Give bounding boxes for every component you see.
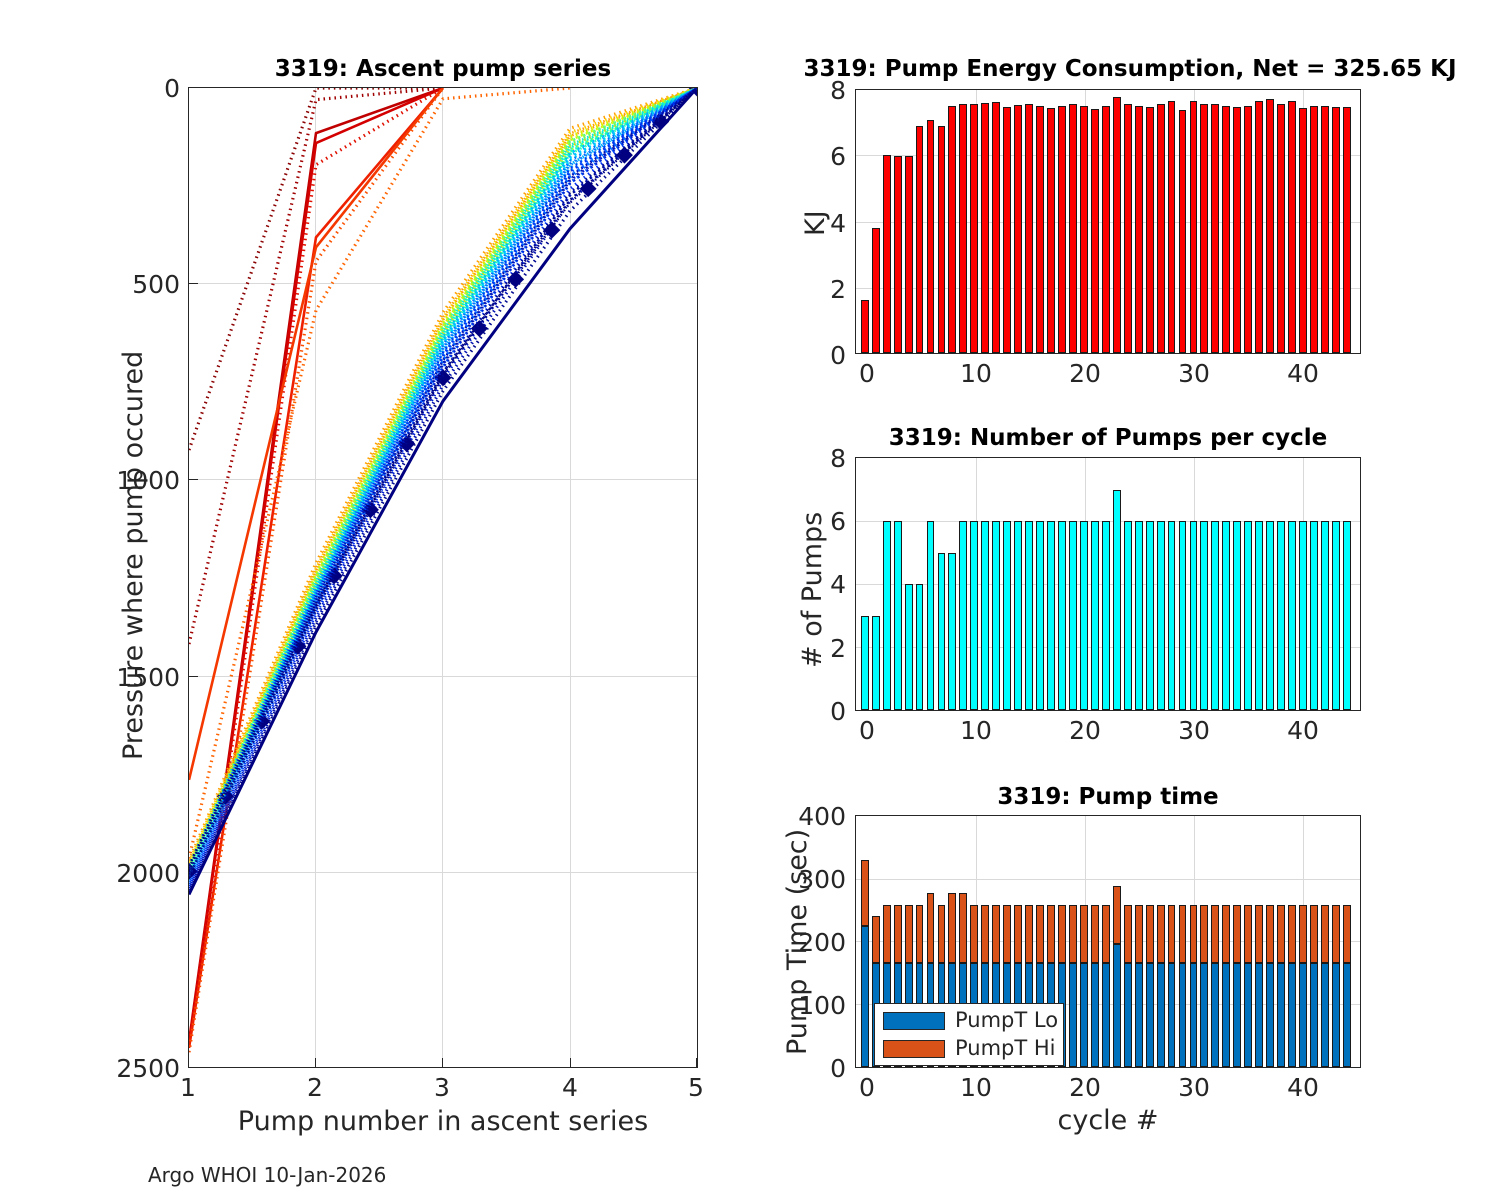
bar — [1310, 521, 1318, 710]
bar — [992, 102, 1000, 353]
footer-credit: Argo WHOI 10-Jan-2026 — [148, 1163, 386, 1187]
ascent-series-line — [189, 88, 697, 871]
ascent-series-line — [189, 88, 697, 874]
bar — [1025, 521, 1033, 710]
bar-segment — [992, 905, 1000, 963]
energy-ytick-label-0: 0 — [800, 341, 846, 370]
time-xtick-label-20: 20 — [1065, 1073, 1105, 1102]
ascent-series-line — [189, 88, 697, 877]
bar — [905, 584, 913, 710]
bar-segment — [894, 905, 902, 963]
bar-segment — [1321, 905, 1329, 963]
ascent-series-line — [189, 88, 697, 877]
ascent-series-line — [189, 88, 697, 874]
pumps-xtick-label-10: 10 — [956, 716, 996, 745]
pumps-bars-container — [856, 458, 1360, 710]
bar — [1135, 521, 1143, 710]
bar-segment — [1343, 963, 1351, 1067]
legend-swatch-pumpt-lo — [883, 1012, 945, 1030]
bar — [1168, 521, 1176, 710]
ascent-series-line — [189, 88, 697, 868]
energy-xtick-label-40: 40 — [1283, 359, 1323, 388]
bar-segment — [948, 893, 956, 964]
bar — [1211, 104, 1219, 353]
bar — [1146, 521, 1154, 710]
energy-chart-title: 3319: Pump Energy Consumption, Net = 325… — [760, 56, 1500, 82]
bar-segment — [1179, 963, 1187, 1067]
bar-segment — [1211, 963, 1219, 1067]
energy-xtick-label-10: 10 — [956, 359, 996, 388]
ascent-series-line — [189, 88, 697, 865]
bar-segment — [1299, 963, 1307, 1067]
ascent-series-line — [189, 88, 697, 874]
bar-segment — [1190, 905, 1198, 963]
bar — [916, 584, 924, 710]
bar-segment — [1266, 963, 1274, 1067]
ascent-series-line — [189, 88, 697, 867]
bar — [1102, 106, 1110, 353]
bar — [916, 126, 924, 354]
pumps-yaxis-label: # of Pumps — [797, 512, 828, 668]
bar-segment — [1277, 963, 1285, 1067]
bar — [1190, 521, 1198, 710]
ascent-series-line — [189, 88, 697, 868]
time-xtick-label-0: 0 — [847, 1073, 887, 1102]
ascent-series-line — [189, 88, 443, 1048]
ascent-series-line — [189, 88, 697, 882]
ascent-series-canvas — [189, 88, 697, 1067]
ascent-series-line — [189, 88, 697, 873]
ascent-series-line — [189, 88, 697, 868]
bar-segment — [872, 916, 880, 963]
bar — [1135, 106, 1143, 353]
bar-segment — [1332, 963, 1340, 1067]
bar — [1146, 107, 1154, 353]
ascent-series-line — [189, 88, 697, 874]
ascent-series-line — [189, 88, 697, 868]
bar — [1113, 490, 1121, 711]
time-xaxis-label: cycle # — [855, 1105, 1361, 1136]
bar-segment — [938, 905, 946, 963]
bar — [1003, 521, 1011, 710]
bar-segment — [1091, 905, 1099, 963]
bar — [1266, 99, 1274, 353]
ascent-series-line — [189, 88, 697, 868]
bar-segment — [1200, 963, 1208, 1067]
ascent-series-line — [189, 88, 697, 880]
bar — [1047, 108, 1055, 353]
bar — [1080, 521, 1088, 710]
pumps-chart-title: 3319: Number of Pumps per cycle — [855, 425, 1361, 451]
bar-segment — [916, 905, 924, 963]
bar-segment — [1200, 905, 1208, 963]
ascent-series-line — [189, 88, 697, 884]
bar-segment — [1058, 905, 1066, 963]
bar — [1277, 521, 1285, 710]
bar — [861, 300, 869, 353]
bar-segment — [1288, 963, 1296, 1067]
ascent-series-line — [189, 88, 443, 1042]
bar — [1332, 107, 1340, 353]
bar — [1321, 106, 1329, 353]
bar — [981, 521, 989, 710]
ascent-series-line — [189, 88, 697, 877]
bar-segment — [1102, 963, 1110, 1067]
bar-segment — [1277, 905, 1285, 963]
ascent-series-line — [189, 88, 697, 875]
bar — [1003, 107, 1011, 353]
bar-segment — [1146, 905, 1154, 963]
bar — [861, 616, 869, 711]
bar — [1190, 101, 1198, 353]
legend-swatch-pumpt-hi — [883, 1040, 945, 1058]
bar-segment — [1332, 905, 1340, 963]
bar — [1299, 108, 1307, 353]
time-xtick-label-40: 40 — [1283, 1073, 1323, 1102]
bar-segment — [1179, 905, 1187, 963]
ascent-series-line — [189, 88, 697, 866]
bar-segment — [970, 905, 978, 963]
bar-segment — [1069, 963, 1077, 1067]
bar — [1113, 97, 1121, 353]
bar — [1014, 105, 1022, 353]
bar-segment — [1003, 905, 1011, 963]
bar — [1277, 104, 1285, 353]
bar — [1124, 104, 1132, 353]
bar-segment — [1113, 944, 1121, 1067]
bar-segment — [1255, 963, 1263, 1067]
bar-segment — [959, 893, 967, 964]
bar — [1343, 521, 1351, 710]
bar-segment — [1233, 963, 1241, 1067]
bar — [1157, 104, 1165, 353]
bar — [1233, 521, 1241, 710]
pumps-xtick-label-30: 30 — [1174, 716, 1214, 745]
bar-segment — [1168, 905, 1176, 963]
ascent-series-line — [189, 88, 697, 878]
bar-segment — [1168, 963, 1176, 1067]
bar — [1168, 101, 1176, 353]
time-xtick-label-30: 30 — [1174, 1073, 1214, 1102]
ascent-series-line — [189, 88, 697, 866]
bar-segment — [1025, 905, 1033, 963]
bar-segment — [1244, 963, 1252, 1067]
ascent-series-line — [189, 88, 697, 877]
bar — [1069, 521, 1077, 710]
bar — [1255, 521, 1263, 710]
bar — [1222, 106, 1230, 353]
bar — [1299, 521, 1307, 710]
ascent-series-line — [189, 88, 697, 877]
bar — [1179, 521, 1187, 710]
ascent-series-line — [189, 88, 697, 861]
bar-segment — [1069, 905, 1077, 963]
bar — [1157, 521, 1165, 710]
bar — [1179, 110, 1187, 353]
bar-segment — [861, 860, 869, 926]
bar-segment — [1321, 963, 1329, 1067]
bar-segment — [1036, 905, 1044, 963]
bar — [1310, 106, 1318, 353]
bar — [872, 228, 880, 353]
ascent-xtick-label-2: 2 — [295, 1073, 335, 1102]
ascent-chart-title: 3319: Ascent pump series — [188, 56, 698, 82]
time-xtick-label-10: 10 — [956, 1073, 996, 1102]
bar-segment — [1124, 963, 1132, 1067]
bar-segment — [1157, 905, 1165, 963]
bar — [1091, 109, 1099, 353]
bar-segment — [1190, 963, 1198, 1067]
bar — [1058, 106, 1066, 353]
legend-label-pumpt-lo: PumpT Lo — [955, 1008, 1058, 1032]
bar — [1222, 521, 1230, 710]
bar — [948, 106, 956, 353]
ascent-xtick-label-5: 5 — [676, 1073, 716, 1102]
bar-segment — [1157, 963, 1165, 1067]
bar — [1266, 521, 1274, 710]
ascent-ytick-label-500: 500 — [110, 270, 180, 299]
ascent-series-line — [189, 88, 697, 869]
ascent-series-line — [189, 88, 697, 877]
bar-segment — [1211, 905, 1219, 963]
ascent-series-line — [189, 88, 697, 874]
bar-segment — [861, 926, 869, 1067]
time-chart-title: 3319: Pump time — [855, 784, 1361, 810]
bar-segment — [1222, 905, 1230, 963]
energy-ytick-label-2: 2 — [800, 275, 846, 304]
bar — [1244, 521, 1252, 710]
bar — [894, 521, 902, 710]
ascent-series-line — [189, 88, 697, 866]
bar-segment — [1102, 905, 1110, 963]
bar — [981, 103, 989, 353]
energy-ytick-label-6: 6 — [800, 142, 846, 171]
bar-segment — [1233, 905, 1241, 963]
bar — [1332, 521, 1340, 710]
ascent-xtick-label-3: 3 — [422, 1073, 462, 1102]
ascent-series-line — [189, 88, 697, 874]
bar — [927, 120, 935, 353]
bar — [1288, 101, 1296, 353]
bar-segment — [1299, 905, 1307, 963]
ascent-series-line — [189, 88, 697, 866]
bar — [938, 553, 946, 711]
bar-segment — [1124, 905, 1132, 963]
bar-segment — [1014, 905, 1022, 963]
ascent-ytick-label-0: 0 — [120, 74, 180, 103]
pumps-ytick-label-0: 0 — [800, 697, 846, 726]
bar — [1036, 521, 1044, 710]
ascent-series-line — [189, 88, 697, 866]
bar-segment — [1135, 905, 1143, 963]
bar-segment — [1310, 905, 1318, 963]
bar-segment — [1222, 963, 1230, 1067]
bar — [1343, 107, 1351, 353]
ascent-series-line — [189, 88, 697, 866]
bar — [1244, 106, 1252, 353]
pumps-xtick-label-20: 20 — [1065, 716, 1105, 745]
ascent-ytick-2500 — [189, 1067, 198, 1068]
ascent-series-line — [189, 88, 697, 868]
energy-xtick-label-30: 30 — [1174, 359, 1214, 388]
energy-xtick-label-20: 20 — [1065, 359, 1105, 388]
bar — [1255, 101, 1263, 353]
ascent-ytick-label-2000: 2000 — [100, 859, 180, 888]
bar-segment — [1310, 963, 1318, 1067]
bar-segment — [1343, 905, 1351, 963]
ascent-series-line — [189, 88, 697, 874]
bar-segment — [981, 905, 989, 963]
bar — [1069, 104, 1077, 353]
bar — [1200, 521, 1208, 710]
bar — [1321, 521, 1329, 710]
pumps-ytick-label-8: 8 — [800, 444, 846, 473]
bar — [1233, 107, 1241, 353]
bar-segment — [1244, 905, 1252, 963]
ascent-series-line — [189, 88, 697, 886]
bar — [992, 521, 1000, 710]
bar-segment — [905, 905, 913, 963]
ascent-series-line — [189, 88, 697, 868]
legend-label-pumpt-hi: PumpT Hi — [955, 1036, 1056, 1060]
ascent-xtick-label-1: 1 — [168, 1073, 208, 1102]
bar — [1288, 521, 1296, 710]
bar — [1091, 521, 1099, 710]
ascent-series-line — [189, 88, 697, 866]
bar-segment — [1080, 905, 1088, 963]
ascent-xtick-label-4: 4 — [550, 1073, 590, 1102]
bar — [970, 521, 978, 710]
bar — [905, 156, 913, 353]
bar — [883, 155, 891, 353]
ascent-series-line — [189, 88, 697, 863]
energy-ytick-label-8: 8 — [800, 76, 846, 105]
energy-xtick-label-0: 0 — [847, 359, 887, 388]
bar — [1200, 104, 1208, 353]
pump-time-legend[interactable]: PumpT Lo PumpT Hi — [874, 1003, 1064, 1066]
ascent-xaxis-label: Pump number in ascent series — [188, 1106, 698, 1137]
bar — [894, 156, 902, 353]
bar-segment — [1047, 905, 1055, 963]
bar — [1025, 104, 1033, 353]
ascent-yaxis-label: Pressure where pump occured — [118, 351, 149, 760]
bar-segment — [1080, 963, 1088, 1067]
bar — [1211, 521, 1219, 710]
bar-segment — [1135, 963, 1143, 1067]
bar-segment — [1146, 963, 1154, 1067]
bar — [1047, 521, 1055, 710]
bar — [959, 104, 967, 353]
bar — [1014, 521, 1022, 710]
bar — [948, 553, 956, 711]
bar — [1124, 521, 1132, 710]
bar — [959, 521, 967, 710]
pumps-xtick-label-0: 0 — [847, 716, 887, 745]
energy-yaxis-label: KJ — [800, 210, 831, 236]
bar — [927, 521, 935, 710]
bar-segment — [927, 893, 935, 963]
bar-segment — [1091, 963, 1099, 1067]
bar — [1058, 521, 1066, 710]
bar — [938, 126, 946, 353]
ascent-series-line — [189, 88, 697, 868]
ascent-series-line — [189, 88, 697, 877]
bar — [883, 521, 891, 710]
energy-bars-container — [856, 90, 1360, 353]
bar-segment — [1255, 905, 1263, 963]
ascent-series-line — [189, 88, 697, 866]
ascent-series-line — [189, 88, 697, 868]
time-ytick-label-400: 400 — [776, 802, 846, 831]
ascent-series-line — [189, 88, 697, 877]
bar-segment — [1266, 905, 1274, 963]
time-ytick-label-0: 0 — [776, 1054, 846, 1083]
bar — [872, 616, 880, 711]
bar — [1036, 106, 1044, 353]
pumps-xtick-label-40: 40 — [1283, 716, 1323, 745]
bar — [1080, 106, 1088, 353]
ascent-series-line — [189, 88, 697, 866]
bar-segment — [1288, 905, 1296, 963]
time-yaxis-label: Pump Time (sec) — [782, 829, 813, 1055]
bar — [1102, 521, 1110, 710]
ascent-series-line — [189, 88, 697, 874]
bar — [970, 104, 978, 353]
bar-segment — [883, 905, 891, 963]
bar-segment — [1113, 886, 1121, 944]
